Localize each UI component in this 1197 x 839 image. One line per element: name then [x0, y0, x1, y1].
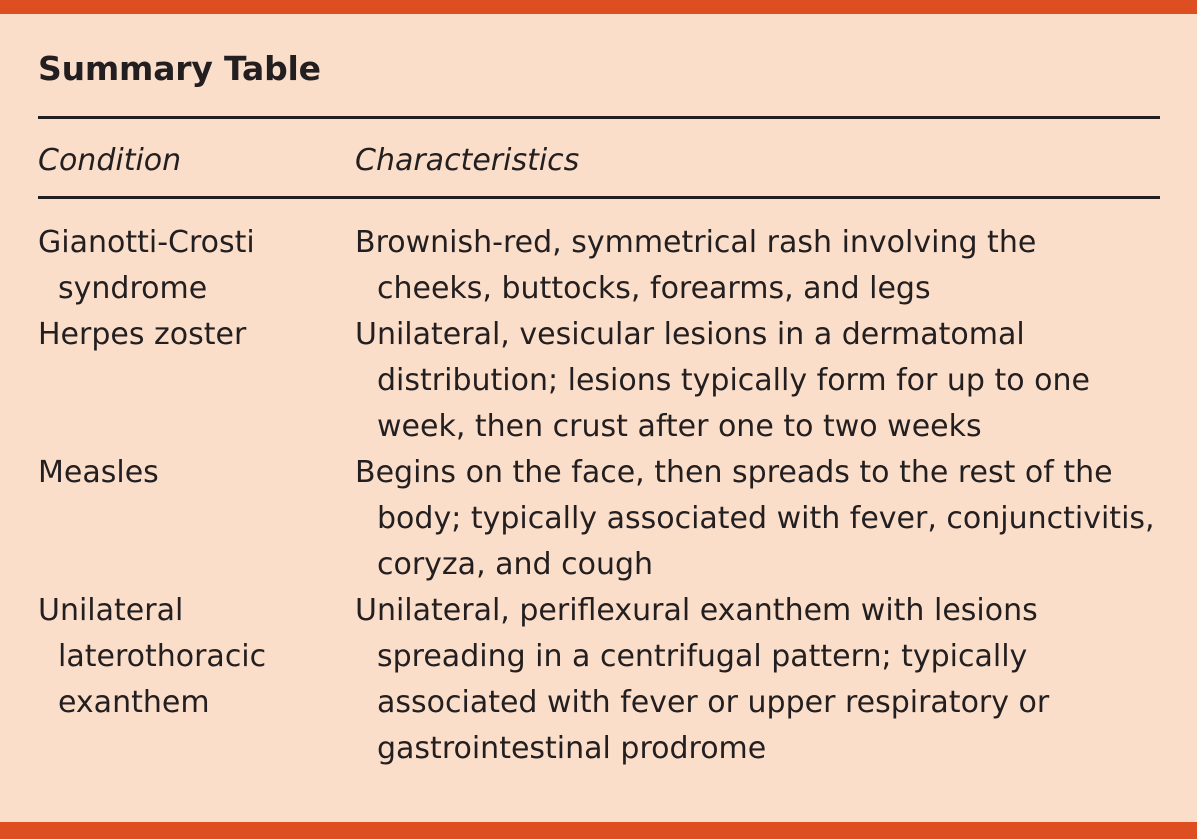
table-body: Gianotti-Crosti syndrome Brownish-red, s… — [38, 199, 1160, 772]
summary-table-page: Summary Table Condition Characteristics — [0, 0, 1197, 839]
cell-condition: Gianotti-Crosti syndrome — [38, 199, 355, 312]
table-row: Unilateral laterothoracic exanthem Unila… — [38, 588, 1160, 772]
cell-characteristics: Unilateral, vesicular lesions in a derma… — [355, 312, 1160, 450]
column-header-condition: Condition — [38, 119, 355, 196]
cell-characteristics: Begins on the face, then spreads to the … — [355, 450, 1160, 588]
table-row: Gianotti-Crosti syndrome Brownish-red, s… — [38, 199, 1160, 312]
top-accent-bar — [0, 0, 1197, 14]
table-row: Herpes zoster Unilateral, vesicular lesi… — [38, 312, 1160, 450]
column-header-characteristics: Characteristics — [355, 119, 1160, 196]
page-title: Summary Table — [38, 14, 1160, 85]
cell-characteristics: Brownish-red, symmetrical rash involving… — [355, 199, 1160, 312]
table-row: Measles Begins on the face, then spreads… — [38, 450, 1160, 588]
table-header-row: Condition Characteristics — [38, 119, 1160, 196]
cell-condition: Herpes zoster — [38, 312, 355, 450]
summary-table-body: Gianotti-Crosti syndrome Brownish-red, s… — [38, 199, 1160, 772]
summary-table: Condition Characteristics — [38, 119, 1160, 196]
table-head: Condition Characteristics — [38, 119, 1160, 196]
cell-condition: Unilateral laterothoracic exanthem — [38, 588, 355, 772]
cell-condition: Measles — [38, 450, 355, 588]
bottom-accent-bar — [0, 822, 1197, 839]
cell-characteristics: Unilateral, periflexural exanthem with l… — [355, 588, 1160, 772]
table-content: Summary Table Condition Characteristics — [38, 14, 1160, 772]
